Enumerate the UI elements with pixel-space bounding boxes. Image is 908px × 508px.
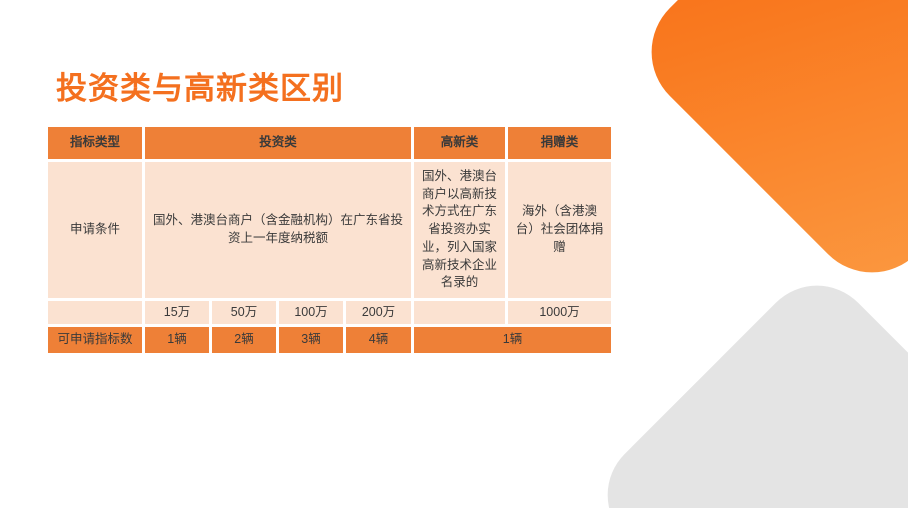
table-row-quota: 可申请指标数 1辆 2辆 3辆 4辆 1辆 [48, 327, 611, 353]
cell-quota-combined: 1辆 [414, 327, 611, 353]
header-cell-hightech: 高新类 [414, 127, 505, 159]
row-label-application-condition: 申请条件 [48, 162, 142, 298]
cell-condition-investment: 国外、港澳台商户（含金融机构）在广东省投资上一年度纳税额 [145, 162, 411, 298]
cell-quota-1: 1辆 [145, 327, 209, 353]
cell-amount-1: 15万 [145, 301, 209, 324]
table-row-condition: 申请条件 国外、港澳台商户（含金融机构）在广东省投资上一年度纳税额 国外、港澳台… [48, 162, 611, 298]
cell-amount-3: 100万 [279, 301, 343, 324]
table-row-amounts: 15万 50万 100万 200万 1000万 [48, 301, 611, 324]
cell-condition-hightech-text: 国外、港澳台商户以高新技术方式在广东省投资办实业，列入国家高新技术企业名录的 [414, 166, 505, 294]
cell-condition-investment-text: 国外、港澳台商户（含金融机构）在广东省投资上一年度纳税额 [145, 210, 411, 250]
cell-amount-2: 50万 [212, 301, 276, 324]
cell-amounts-label [48, 301, 142, 324]
cell-condition-hightech: 国外、港澳台商户以高新技术方式在广东省投资办实业，列入国家高新技术企业名录的 [414, 162, 505, 298]
header-cell-investment: 投资类 [145, 127, 411, 159]
cell-amount-hightech [414, 301, 505, 324]
cell-condition-donation: 海外（含港澳台）社会团体捐赠 [508, 162, 611, 298]
cell-quota-4: 4辆 [346, 327, 411, 353]
gray-rounded-square-shape [584, 262, 908, 508]
cell-amount-donation: 1000万 [508, 301, 611, 324]
row-label-quota: 可申请指标数 [48, 327, 142, 353]
comparison-table-container: 指标类型 投资类 高新类 捐赠类 申请条件 国外、港澳台商户（含金融机构）在广东… [48, 127, 608, 353]
comparison-table: 指标类型 投资类 高新类 捐赠类 申请条件 国外、港澳台商户（含金融机构）在广东… [45, 124, 614, 356]
page-title: 投资类与高新类区别 [56, 63, 344, 108]
orange-rounded-square-shape [626, 0, 908, 298]
header-cell-donation: 捐赠类 [508, 127, 611, 159]
table-header-row: 指标类型 投资类 高新类 捐赠类 [48, 127, 611, 159]
cell-quota-2: 2辆 [212, 327, 276, 353]
header-cell-indicator-type: 指标类型 [48, 127, 142, 159]
cell-quota-3: 3辆 [279, 327, 343, 353]
slide-canvas: 投资类与高新类区别 指标类型 投资类 高新类 捐赠类 申请条件 [0, 0, 908, 508]
cell-amount-4: 200万 [346, 301, 411, 324]
cell-condition-donation-text: 海外（含港澳台）社会团体捐赠 [508, 201, 611, 258]
